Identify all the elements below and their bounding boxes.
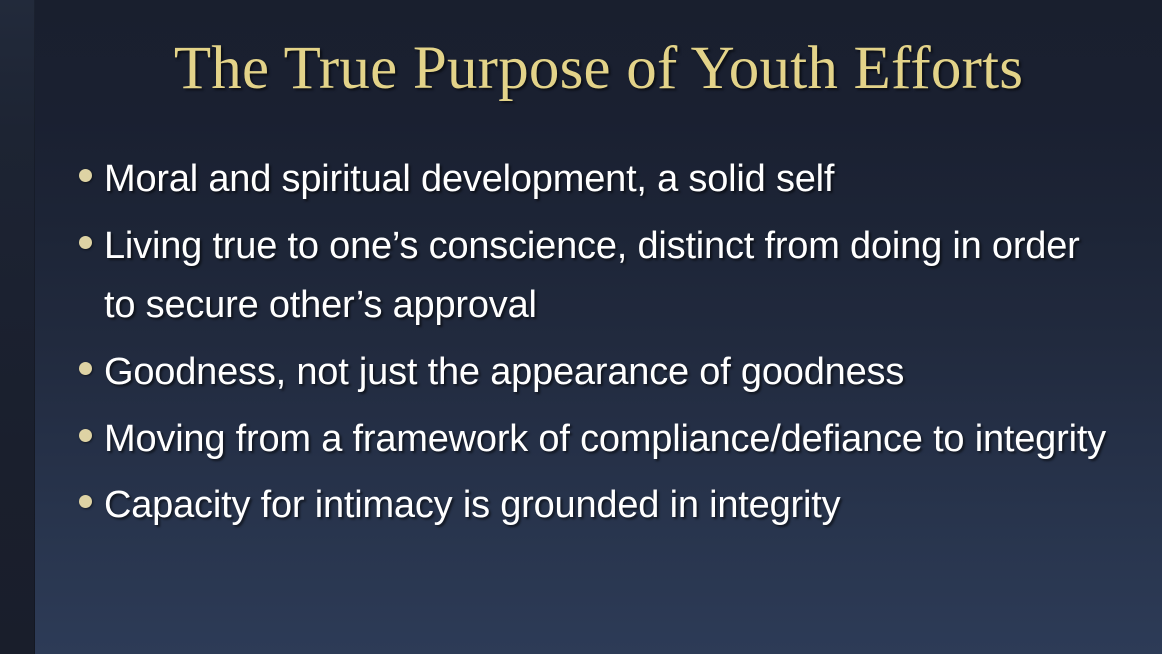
bullet-dot-icon <box>79 236 92 249</box>
bullet-dot-icon <box>79 429 92 442</box>
bullet-marker <box>60 410 104 442</box>
bullet-marker <box>60 217 104 249</box>
slide-content: The True Purpose of Youth Efforts Moral … <box>0 0 1162 654</box>
bullet-dot-icon <box>79 362 92 375</box>
bullet-marker <box>60 343 104 375</box>
presentation-slide: The True Purpose of Youth Efforts Moral … <box>0 0 1162 654</box>
list-item: Moral and spiritual development, a solid… <box>60 150 1120 210</box>
list-item: Goodness, not just the appearance of goo… <box>60 343 1120 403</box>
bullet-dot-icon <box>79 169 92 182</box>
list-item-text: Moving from a framework of compliance/de… <box>104 410 1120 470</box>
list-item-text: Goodness, not just the appearance of goo… <box>104 343 1120 403</box>
bullet-dot-icon <box>79 495 92 508</box>
list-item: Capacity for intimacy is grounded in int… <box>60 476 1120 536</box>
bullet-marker <box>60 150 104 182</box>
bullet-marker <box>60 476 104 508</box>
list-item-text: Capacity for intimacy is grounded in int… <box>104 476 1120 536</box>
slide-title: The True Purpose of Youth Efforts <box>35 36 1162 102</box>
list-item: Moving from a framework of compliance/de… <box>60 410 1120 470</box>
list-item: Living true to one’s conscience, distinc… <box>60 217 1120 336</box>
list-item-text: Living true to one’s conscience, distinc… <box>104 217 1120 336</box>
bullet-list: Moral and spiritual development, a solid… <box>60 150 1120 543</box>
list-item-text: Moral and spiritual development, a solid… <box>104 150 1120 210</box>
